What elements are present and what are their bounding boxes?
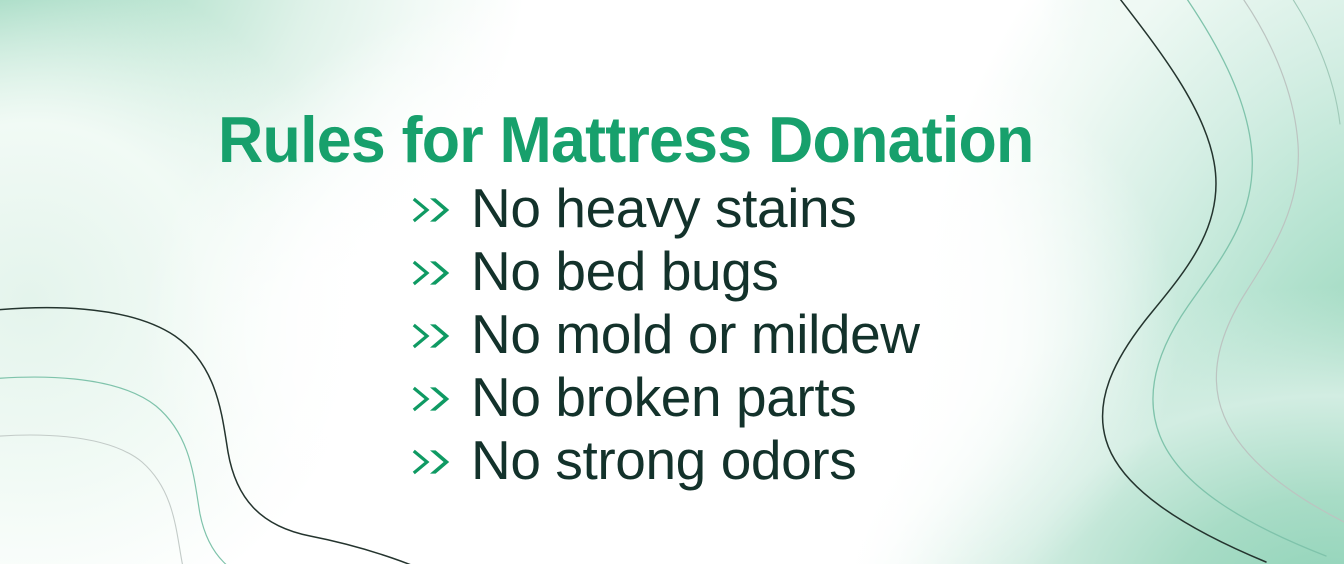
decorative-curves-bottom-left: [0, 240, 460, 564]
double-chevron-right-icon: [412, 321, 452, 351]
decorative-curve-dark: [1103, 0, 1266, 562]
list-item: No bed bugs: [412, 241, 920, 304]
list-item-label: No broken parts: [471, 370, 856, 425]
double-chevron-right-icon: [412, 195, 452, 225]
mattress-donation-rules-banner: Rules for Mattress Donation No heavy sta…: [0, 0, 1344, 564]
list-item-label: No bed bugs: [471, 244, 779, 299]
decorative-curves-right: [1048, 0, 1344, 564]
double-chevron-right-icon: [412, 258, 452, 288]
list-item: No mold or mildew: [412, 304, 920, 367]
decorative-curve-teal: [1153, 0, 1326, 556]
decorative-curve-gray: [0, 435, 250, 564]
double-chevron-right-icon: [412, 384, 452, 414]
decorative-curve-teal-short: [1284, 0, 1340, 124]
list-item-label: No strong odors: [471, 433, 856, 488]
list-item: No strong odors: [412, 430, 920, 493]
list-item: No heavy stains: [412, 178, 920, 241]
decorative-curve-teal: [0, 377, 420, 564]
list-item-label: No heavy stains: [471, 181, 856, 236]
rules-list: No heavy stains No bed bugs No mold or m…: [412, 178, 920, 493]
page-title: Rules for Mattress Donation: [218, 106, 1096, 175]
decorative-curve-dark: [0, 308, 460, 564]
list-item-label: No mold or mildew: [471, 307, 920, 362]
double-chevron-right-icon: [412, 447, 452, 477]
list-item: No broken parts: [412, 367, 920, 430]
decorative-curve-gray: [1216, 0, 1344, 524]
